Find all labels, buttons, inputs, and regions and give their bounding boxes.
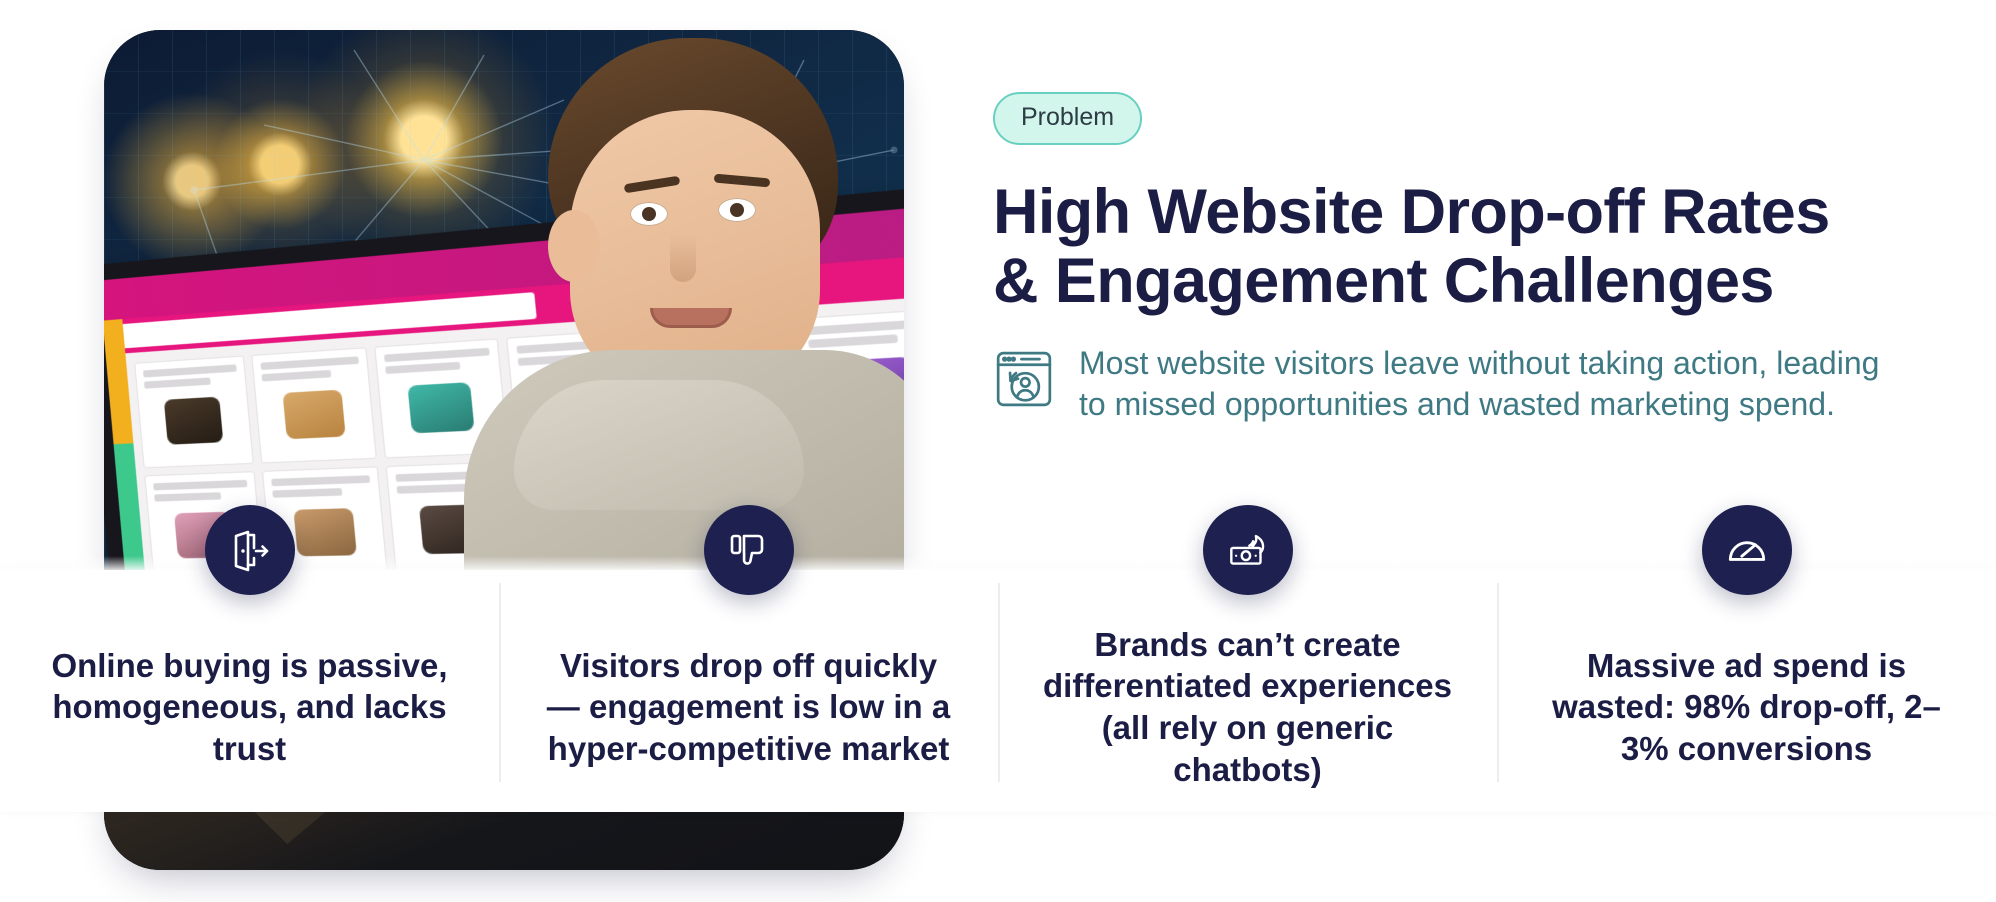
- browser-window-user-refresh-icon: [993, 348, 1055, 415]
- problem-text-column: Problem High Website Drop-off Rates & En…: [993, 92, 1923, 426]
- problem-card-3: Brands can’t create differentiated exper…: [998, 570, 1497, 812]
- problem-card-1: Online buying is passive, homogeneous, a…: [0, 570, 499, 812]
- thumbs-down-icon: [704, 505, 794, 595]
- problem-card-text: Massive ad spend is wasted: 98% drop-off…: [1537, 645, 1956, 770]
- section-badge: Problem: [993, 92, 1142, 145]
- burning-money-icon: [1203, 505, 1293, 595]
- problem-card-text: Online buying is passive, homogeneous, a…: [40, 645, 459, 770]
- headline-line-2: & Engagement Challenges: [993, 247, 1923, 316]
- person-nose: [670, 234, 696, 282]
- subtitle-text: Most website visitors leave without taki…: [1079, 343, 1899, 426]
- person-ear: [548, 210, 600, 282]
- problem-card-text: Brands can’t create differentiated exper…: [1038, 624, 1457, 790]
- person-mouth: [650, 308, 732, 328]
- subtitle-block: Most website visitors leave without taki…: [993, 343, 1923, 426]
- exit-door-icon: [205, 505, 295, 595]
- slide-root: knoc kno Problem High Website Drop-off R…: [0, 0, 1996, 902]
- problem-card-text: Visitors drop off quickly — engagement i…: [539, 645, 958, 770]
- problem-points-panel: Online buying is passive, homogeneous, a…: [0, 570, 1996, 812]
- problem-card-4: Massive ad spend is wasted: 98% drop-off…: [1497, 570, 1996, 812]
- speedometer-slow-icon: [1702, 505, 1792, 595]
- person-eye-right: [718, 198, 756, 222]
- product-tile: [251, 347, 377, 463]
- product-tile: [134, 356, 253, 469]
- person-hood-fold: [514, 380, 804, 510]
- person-eye-left: [630, 202, 668, 226]
- problem-card-2: Visitors drop off quickly — engagement i…: [499, 570, 998, 812]
- headline-line-1: High Website Drop-off Rates: [993, 178, 1923, 247]
- page-title: High Website Drop-off Rates & Engagement…: [993, 178, 1923, 317]
